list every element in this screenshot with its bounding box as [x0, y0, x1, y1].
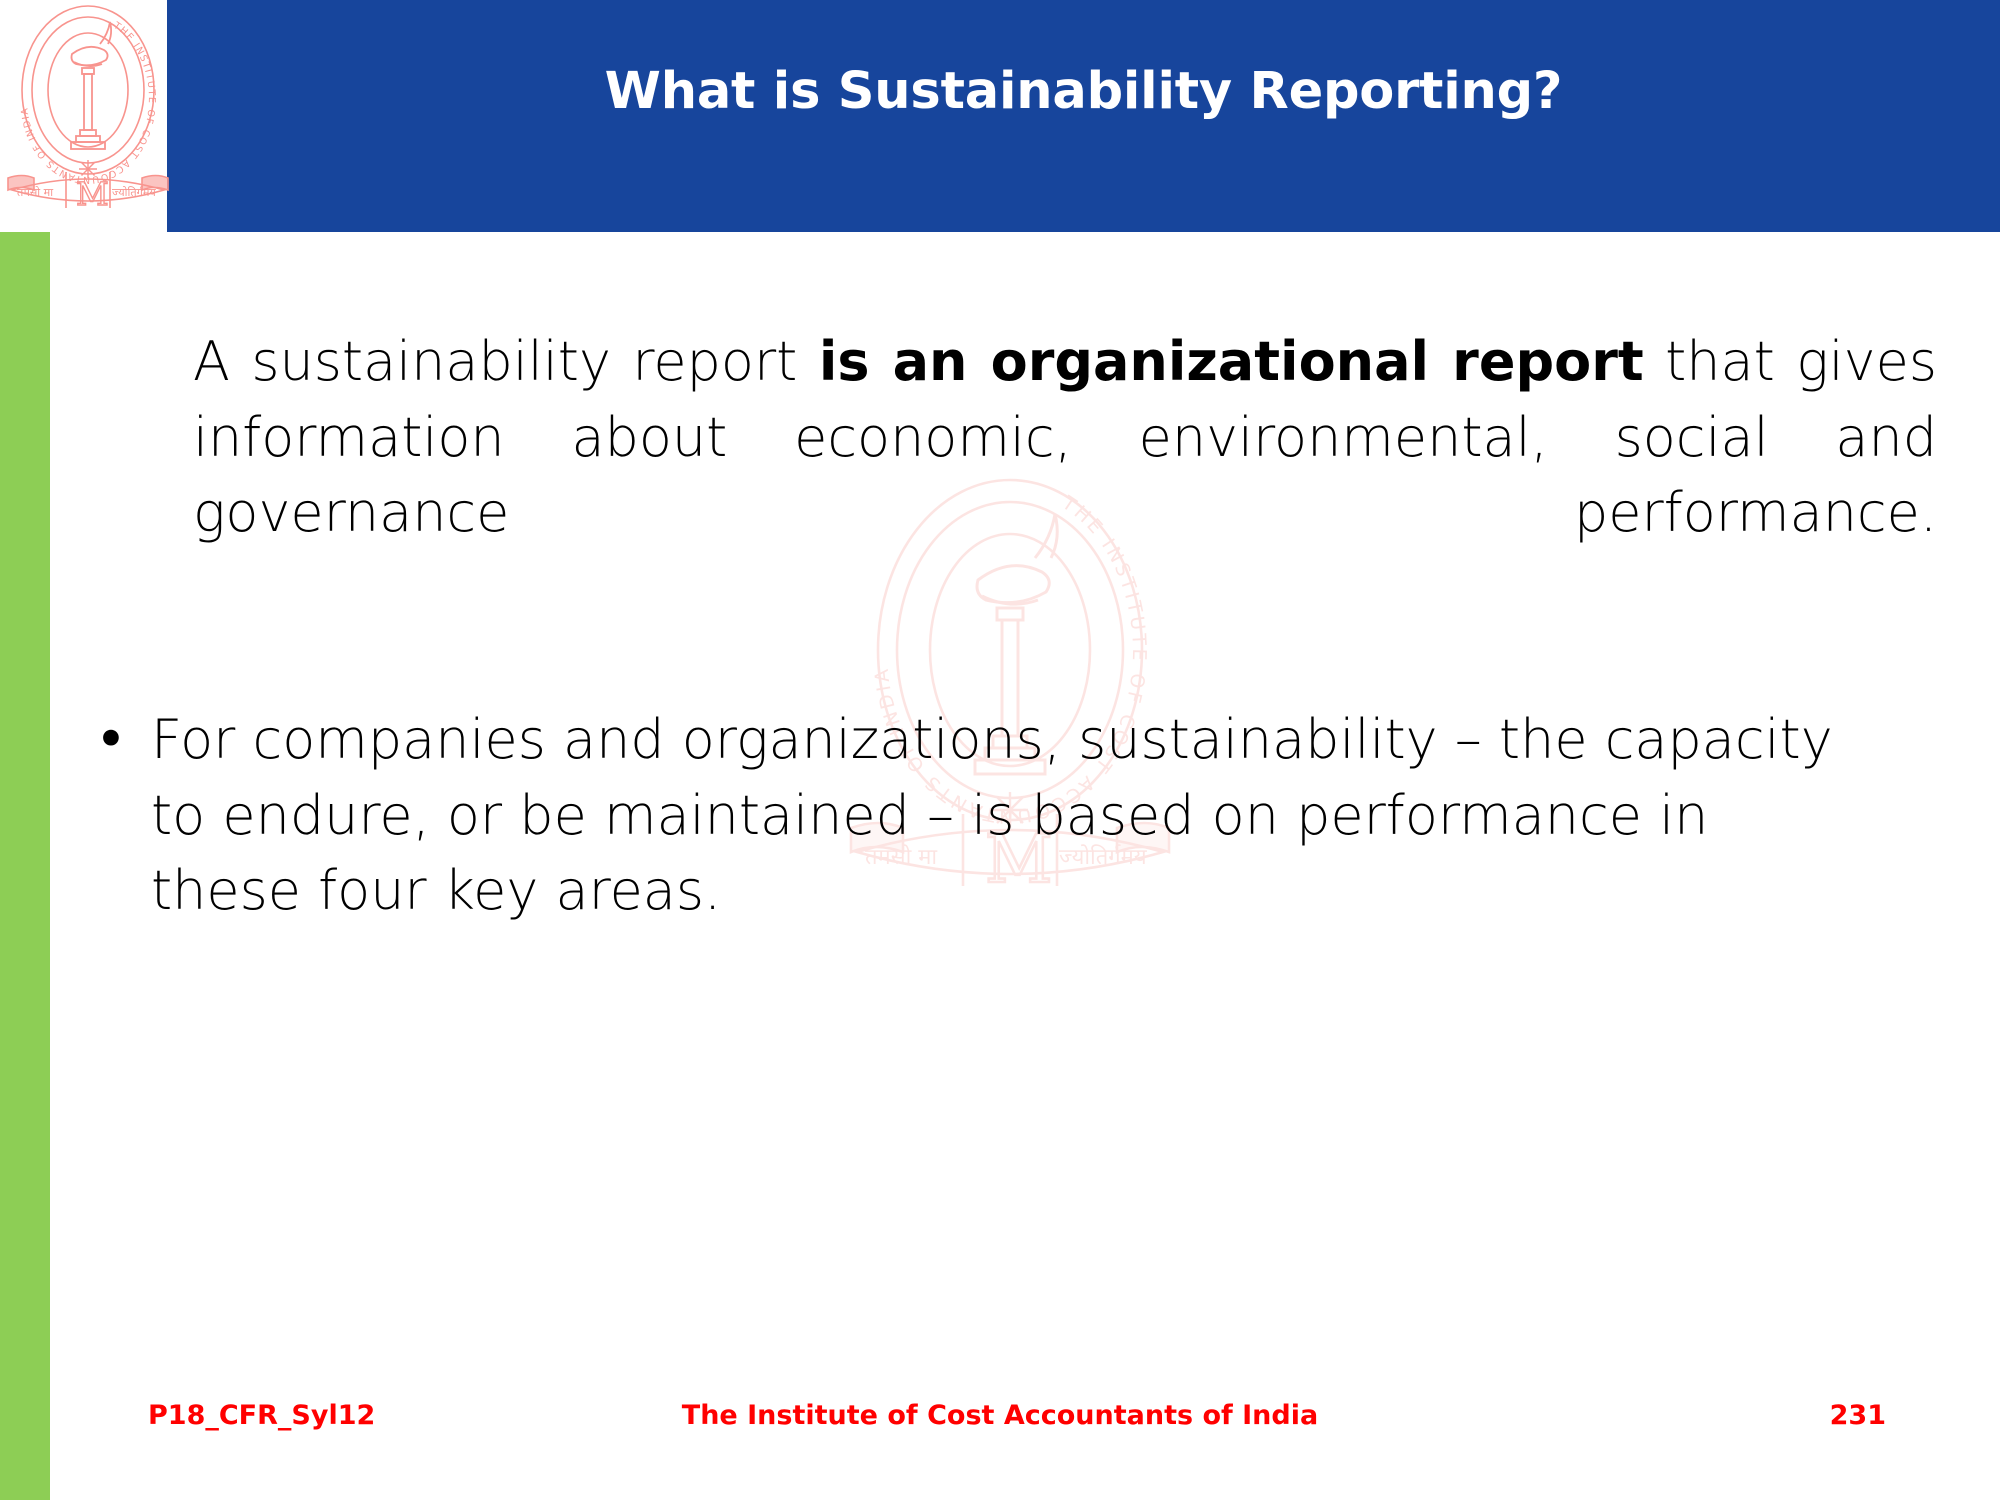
- bullet-item: • For companies and organizations, susta…: [95, 702, 1835, 929]
- footer-institute-name: The Institute of Cost Accountants of Ind…: [0, 1400, 2000, 1431]
- svg-text:M: M: [76, 175, 109, 213]
- bullet-text: For companies and organizations, sustain…: [151, 702, 1835, 929]
- page-title: What is Sustainability Reporting?: [167, 62, 2000, 121]
- intro-paragraph: A sustainability report is an organizati…: [193, 324, 1937, 626]
- svg-text:तमसो मा: तमसो मा: [17, 186, 53, 199]
- slide-footer: P18_CFR_Syl12 The Institute of Cost Acco…: [0, 1400, 2000, 1460]
- institute-logo-icon: THE INSTITUTE OF COST ACCOUNTANTS OF IND…: [4, 2, 172, 214]
- header-band: What is Sustainability Reporting?: [167, 0, 2000, 232]
- slide-body: A sustainability report is an organizati…: [0, 232, 2000, 1382]
- footer-page-number: 231: [1830, 1400, 1886, 1431]
- paragraph-emphasis: is an organizational report: [819, 330, 1644, 393]
- slide-canvas: What is Sustainability Reporting? THE IN…: [0, 0, 2000, 1500]
- svg-text:ज्योतिर्गमय: ज्योतिर्गमय: [112, 186, 156, 199]
- bullet-marker-icon: •: [95, 702, 151, 778]
- paragraph-lead: A sustainability report: [193, 330, 819, 393]
